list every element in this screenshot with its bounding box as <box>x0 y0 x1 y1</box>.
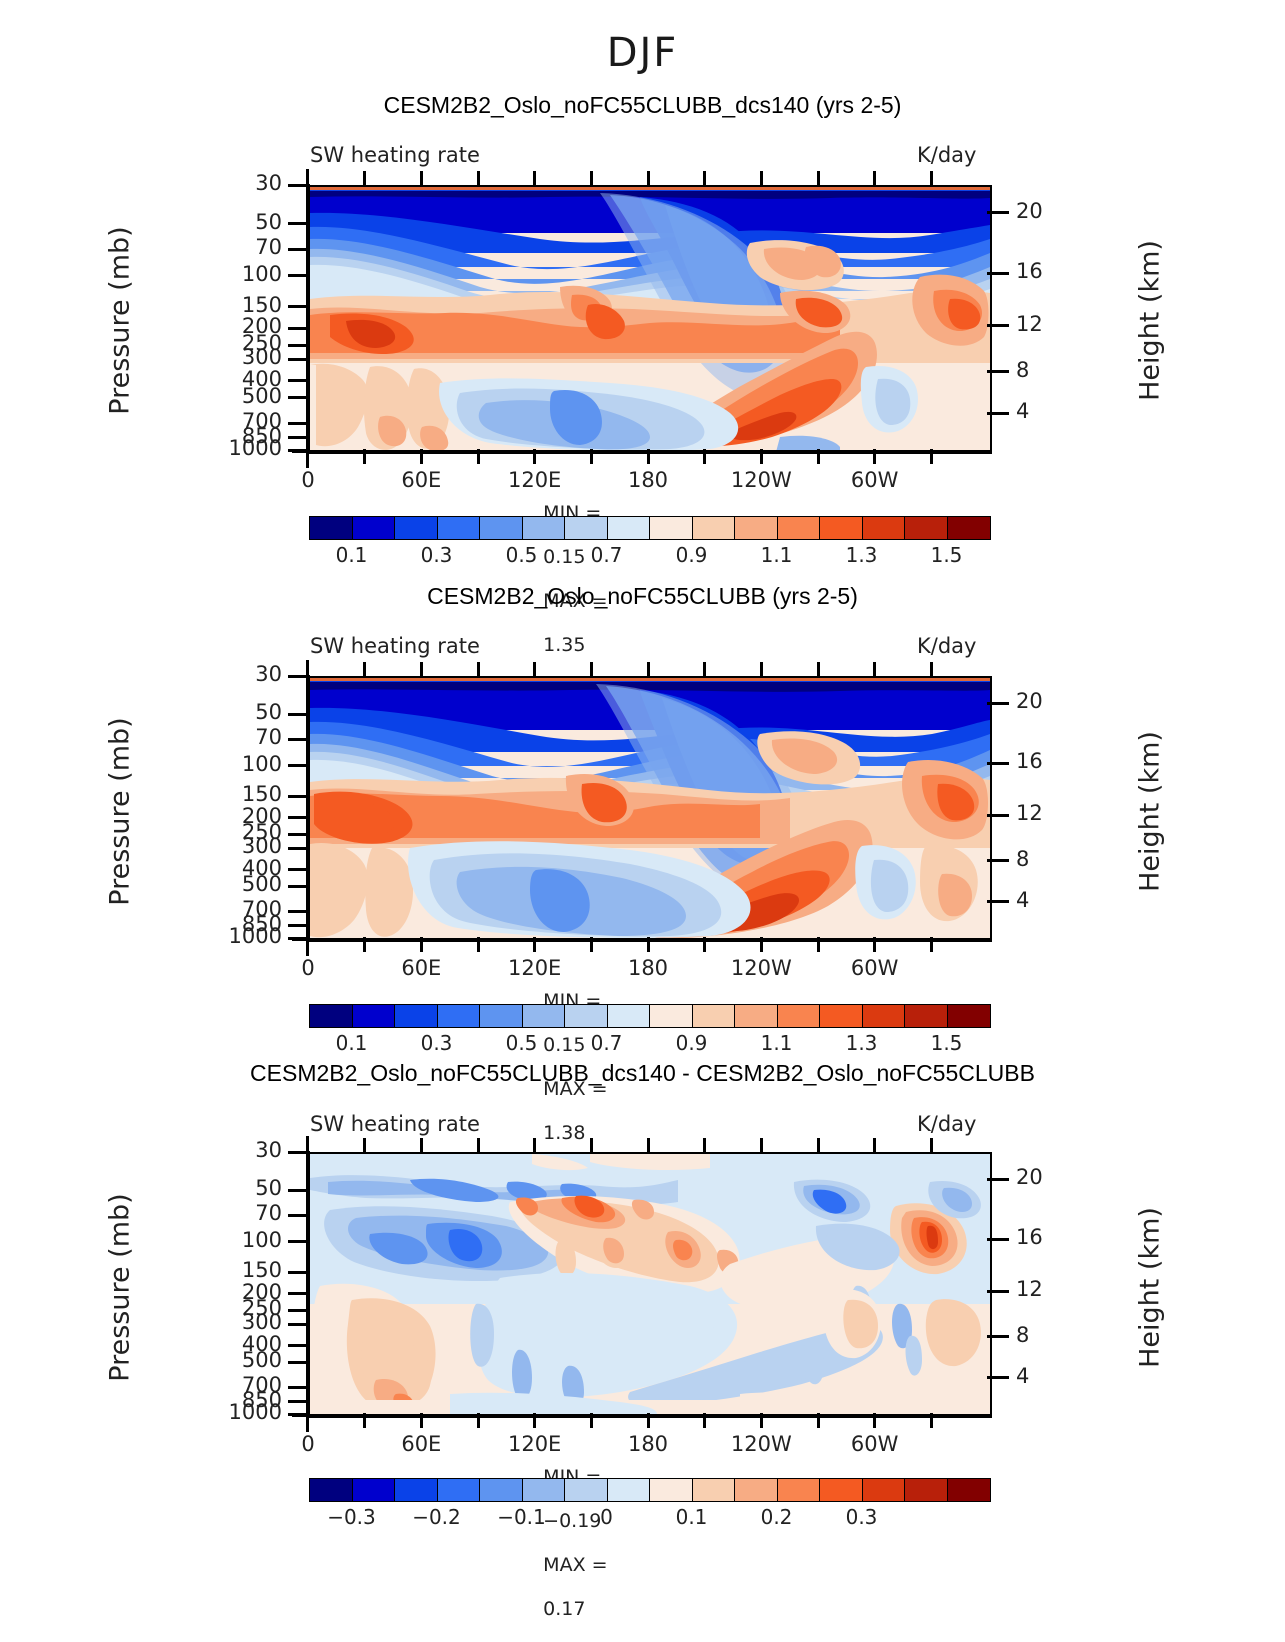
panel-2-plot-area[interactable] <box>308 676 992 942</box>
pressure-tick-label: 150 <box>178 784 282 805</box>
height-tick-label: 16 <box>1016 751 1076 772</box>
panel-2-ylabel-right: Height (km) <box>1135 662 1166 962</box>
panel-2-colorbar[interactable] <box>309 1004 991 1028</box>
colorbar-swatch[interactable] <box>480 517 523 539</box>
pressure-tick-label: 1000 <box>178 438 282 459</box>
height-tickmark <box>987 1335 1009 1338</box>
x-tick-label: 180 <box>603 468 693 492</box>
pressure-tick-label: 50 <box>178 212 282 233</box>
x-tick-label: 120E <box>490 956 580 980</box>
height-tick-label: 20 <box>1016 201 1076 222</box>
colorbar-swatch[interactable] <box>693 1005 736 1027</box>
colorbar-tick-label: 0.9 <box>647 1031 737 1055</box>
colorbar-swatch[interactable] <box>863 1005 906 1027</box>
panel-3-title: CESM2B2_Oslo_noFC55CLUBB_dcs140 - CESM2B… <box>0 1060 1285 1087</box>
colorbar-swatch[interactable] <box>438 517 481 539</box>
x-minor-tickmark <box>647 1138 650 1153</box>
height-tickmark <box>987 1178 1009 1181</box>
colorbar-swatch[interactable] <box>395 1479 438 1501</box>
height-tick-label: 16 <box>1016 1227 1076 1248</box>
x-minor-tickmark <box>477 662 480 677</box>
height-tick-label: 12 <box>1016 803 1076 824</box>
colorbar-swatch[interactable] <box>353 1005 396 1027</box>
panel-2-units-label: K/day <box>917 634 976 658</box>
height-tickmark <box>987 370 1009 373</box>
colorbar-swatch[interactable] <box>693 517 736 539</box>
colorbar-swatch[interactable] <box>735 517 778 539</box>
x-minor-tickmark <box>590 171 593 186</box>
bottom-axis-spine <box>292 450 990 453</box>
panel-3-minmax: MIN = −0.19 MAX = 0.17 <box>519 1444 608 1642</box>
height-tickmark <box>987 1238 1009 1241</box>
x-tick-label: 60E <box>376 468 466 492</box>
x-tick-label: 120W <box>716 1432 806 1456</box>
colorbar-swatch[interactable] <box>948 517 991 539</box>
colorbar-swatch[interactable] <box>778 1005 821 1027</box>
pressure-tick-label: 50 <box>178 702 282 723</box>
panel-3-ylabel-right: Height (km) <box>1135 1138 1166 1438</box>
x-tick-label: 60W <box>830 956 920 980</box>
colorbar-swatch[interactable] <box>523 517 566 539</box>
colorbar-swatch[interactable] <box>565 1479 608 1501</box>
colorbar-swatch[interactable] <box>523 1479 566 1501</box>
pressure-tick-label: 500 <box>178 874 282 895</box>
x-minor-tickmark <box>477 1138 480 1153</box>
x-minor-tickmark <box>703 662 706 677</box>
height-tickmark <box>987 762 1009 765</box>
colorbar-swatch[interactable] <box>353 1479 396 1501</box>
colorbar-swatch[interactable] <box>820 1005 863 1027</box>
colorbar-swatch[interactable] <box>480 1479 523 1501</box>
pressure-tick-label: 70 <box>178 727 282 748</box>
x-minor-tickmark <box>703 1138 706 1153</box>
colorbar-swatch[interactable] <box>310 1005 353 1027</box>
panel-1-ylabel: Pressure (mb) <box>105 171 136 471</box>
left-axis-spine <box>306 660 309 956</box>
colorbar-tick-label: 1.5 <box>902 1031 992 1055</box>
x-tick-label: 120W <box>716 468 806 492</box>
x-minor-tickmark <box>873 1138 876 1153</box>
max-value: 1.35 <box>543 634 585 656</box>
x-tick-label: 0 <box>263 468 353 492</box>
panel-3-contour-field <box>310 1154 990 1416</box>
x-tick-label: 0 <box>263 1432 353 1456</box>
panel-1-ylabel-right: Height (km) <box>1135 171 1166 471</box>
panel-2-variable-label: SW heating rate <box>310 634 480 658</box>
pressure-tick-label: 70 <box>178 1203 282 1224</box>
x-minor-tickmark <box>817 171 820 186</box>
panel-1-colorbar[interactable] <box>309 516 991 540</box>
x-tick-label: 120W <box>716 956 806 980</box>
colorbar-swatch[interactable] <box>905 1479 948 1501</box>
max-prefix: MAX = <box>543 1554 607 1576</box>
colorbar-tick-label: 0.3 <box>392 543 482 567</box>
colorbar-tick-label: 1.3 <box>817 543 907 567</box>
x-tick-label: 180 <box>603 1432 693 1456</box>
x-minor-tickmark <box>930 662 933 677</box>
panel-1-units-label: K/day <box>917 143 976 167</box>
colorbar-swatch[interactable] <box>863 1479 906 1501</box>
colorbar-swatch[interactable] <box>948 1005 991 1027</box>
panel-3-units-label: K/day <box>917 1112 976 1136</box>
height-tick-label: 8 <box>1016 360 1076 381</box>
height-tick-label: 8 <box>1016 1325 1076 1346</box>
height-tickmark <box>987 1290 1009 1293</box>
panel-3-variable-label: SW heating rate <box>310 1112 480 1136</box>
panel-1-title: CESM2B2_Oslo_noFC55CLUBB_dcs140 (yrs 2-5… <box>0 92 1285 119</box>
colorbar-tick-label: 0.5 <box>477 543 567 567</box>
colorbar-tick-label: 0.1 <box>307 1031 397 1055</box>
x-minor-tickmark <box>533 1138 536 1153</box>
x-tick-label: 60W <box>830 1432 920 1456</box>
height-tickmark <box>987 859 1009 862</box>
colorbar-swatch[interactable] <box>863 517 906 539</box>
pressure-tick-label: 1000 <box>178 1402 282 1423</box>
x-minor-tickmark <box>420 1138 423 1153</box>
x-minor-tickmark <box>533 662 536 677</box>
panel-3-plot-area[interactable] <box>308 1152 992 1418</box>
panel-2-ylabel: Pressure (mb) <box>105 662 136 962</box>
x-minor-tickmark <box>930 1138 933 1153</box>
pressure-tick-label: 300 <box>178 347 282 368</box>
height-tick-label: 8 <box>1016 849 1076 870</box>
height-tick-label: 20 <box>1016 1167 1076 1188</box>
x-minor-tickmark <box>363 662 366 677</box>
x-minor-tickmark <box>420 662 423 677</box>
max-value: 0.17 <box>543 1598 585 1620</box>
colorbar-tick-label: 1.5 <box>902 543 992 567</box>
colorbar-tick-label: 0.1 <box>307 543 397 567</box>
colorbar-swatch[interactable] <box>650 1479 693 1501</box>
x-minor-tickmark <box>817 1138 820 1153</box>
colorbar-swatch[interactable] <box>905 1005 948 1027</box>
height-tickmark <box>987 211 1009 214</box>
colorbar-swatch[interactable] <box>310 1479 353 1501</box>
pressure-tick-label: 500 <box>178 1350 282 1371</box>
panel-1-plot-area[interactable] <box>308 185 992 454</box>
height-tickmark <box>987 324 1009 327</box>
height-tickmark <box>987 702 1009 705</box>
colorbar-swatch[interactable] <box>820 517 863 539</box>
x-minor-tickmark <box>760 171 763 186</box>
season-title: DJF <box>0 30 1285 76</box>
x-minor-tickmark <box>590 1138 593 1153</box>
x-minor-tickmark <box>477 171 480 186</box>
colorbar-tick-label: 0.5 <box>477 1031 567 1055</box>
colorbar-swatch[interactable] <box>608 517 651 539</box>
x-tick-label: 180 <box>603 956 693 980</box>
panel-2-contour-field <box>310 678 990 940</box>
x-minor-tickmark <box>817 662 820 677</box>
pressure-tick-label: 100 <box>178 264 282 285</box>
colorbar-swatch[interactable] <box>438 1479 481 1501</box>
height-tickmark <box>987 412 1009 415</box>
colorbar-swatch[interactable] <box>608 1479 651 1501</box>
colorbar-swatch[interactable] <box>905 517 948 539</box>
x-tick-label: 0 <box>263 956 353 980</box>
colorbar-tick-label: 0.2 <box>732 1505 822 1529</box>
colorbar-tick-label: 0.3 <box>817 1505 907 1529</box>
panel-1-variable-label: SW heating rate <box>310 143 480 167</box>
panel-3-ylabel: Pressure (mb) <box>105 1138 136 1438</box>
x-minor-tickmark <box>590 662 593 677</box>
x-minor-tickmark <box>873 171 876 186</box>
colorbar-swatch[interactable] <box>948 1479 991 1501</box>
colorbar-tick-label: 0.9 <box>647 543 737 567</box>
pressure-tick-label: 300 <box>178 836 282 857</box>
pressure-tick-label: 1000 <box>178 926 282 947</box>
colorbar-tick-label: −0.2 <box>392 1505 482 1529</box>
colorbar-swatch[interactable] <box>565 1005 608 1027</box>
bottom-axis-spine <box>292 1414 990 1417</box>
height-tick-label: 4 <box>1016 1366 1076 1387</box>
pressure-tick-label: 50 <box>178 1178 282 1199</box>
height-tick-label: 4 <box>1016 890 1076 911</box>
pressure-tick-label: 70 <box>178 237 282 258</box>
colorbar-tick-label: −0.1 <box>477 1505 567 1529</box>
pressure-tick-label: 30 <box>178 173 282 194</box>
colorbar-swatch[interactable] <box>395 517 438 539</box>
panel-3-colorbar[interactable] <box>309 1478 991 1502</box>
height-tick-label: 16 <box>1016 261 1076 282</box>
x-minor-tickmark <box>930 171 933 186</box>
colorbar-swatch[interactable] <box>608 1005 651 1027</box>
x-minor-tickmark <box>647 171 650 186</box>
colorbar-tick-label: 0.7 <box>562 1031 652 1055</box>
x-minor-tickmark <box>703 171 706 186</box>
x-tick-label: 120E <box>490 468 580 492</box>
x-minor-tickmark <box>760 1138 763 1153</box>
colorbar-swatch[interactable] <box>735 1005 778 1027</box>
pressure-tick-label: 500 <box>178 386 282 407</box>
height-tick-label: 12 <box>1016 1279 1076 1300</box>
colorbar-swatch[interactable] <box>778 517 821 539</box>
pressure-tick-label: 100 <box>178 754 282 775</box>
colorbar-swatch[interactable] <box>523 1005 566 1027</box>
colorbar-swatch[interactable] <box>480 1005 523 1027</box>
colorbar-swatch[interactable] <box>735 1479 778 1501</box>
colorbar-swatch[interactable] <box>438 1005 481 1027</box>
x-tick-label: 60E <box>376 956 466 980</box>
pressure-tick-label: 100 <box>178 1230 282 1251</box>
x-minor-tickmark <box>647 662 650 677</box>
x-tick-label: 120E <box>490 1432 580 1456</box>
max-value: 1.38 <box>543 1122 585 1144</box>
colorbar-swatch[interactable] <box>395 1005 438 1027</box>
pressure-tick-label: 30 <box>178 664 282 685</box>
colorbar-swatch[interactable] <box>778 1479 821 1501</box>
height-tickmark <box>987 900 1009 903</box>
height-tick-label: 20 <box>1016 691 1076 712</box>
bottom-axis-spine <box>292 938 990 941</box>
colorbar-tick-label: 1.3 <box>817 1031 907 1055</box>
colorbar-tick-label: −0.3 <box>307 1505 397 1529</box>
colorbar-tick-label: 0.7 <box>562 543 652 567</box>
x-tick-label: 60W <box>830 468 920 492</box>
colorbar-tick-label: 0 <box>562 1505 652 1529</box>
colorbar-swatch[interactable] <box>353 517 396 539</box>
pressure-tick-label: 30 <box>178 1140 282 1161</box>
height-tickmark <box>987 272 1009 275</box>
x-minor-tickmark <box>420 171 423 186</box>
panel-2-title: CESM2B2_Oslo_noFC55CLUBB (yrs 2-5) <box>0 583 1285 610</box>
x-minor-tickmark <box>873 662 876 677</box>
colorbar-tick-label: 0.3 <box>392 1031 482 1055</box>
height-tick-label: 4 <box>1016 401 1076 422</box>
colorbar-swatch[interactable] <box>693 1479 736 1501</box>
colorbar-swatch[interactable] <box>310 517 353 539</box>
pressure-tick-label: 300 <box>178 1312 282 1333</box>
colorbar-tick-label: 1.1 <box>732 543 822 567</box>
height-tickmark <box>987 1376 1009 1379</box>
pressure-tick-label: 150 <box>178 1260 282 1281</box>
x-minor-tickmark <box>533 171 536 186</box>
x-tick-label: 60E <box>376 1432 466 1456</box>
colorbar-swatch[interactable] <box>650 1005 693 1027</box>
colorbar-swatch[interactable] <box>565 517 608 539</box>
colorbar-swatch[interactable] <box>820 1479 863 1501</box>
panel-1-contour-field <box>310 187 990 452</box>
left-axis-spine <box>306 169 309 468</box>
height-tick-label: 12 <box>1016 314 1076 335</box>
left-axis-spine <box>306 1136 309 1432</box>
colorbar-tick-label: 0.1 <box>647 1505 737 1529</box>
x-minor-tickmark <box>760 662 763 677</box>
x-minor-tickmark <box>363 171 366 186</box>
pressure-tick-label: 150 <box>178 295 282 316</box>
colorbar-tick-label: 1.1 <box>732 1031 822 1055</box>
x-minor-tickmark <box>363 1138 366 1153</box>
panel-1-minmax: MIN = 0.15 MAX = 1.35 <box>519 480 608 678</box>
height-tickmark <box>987 814 1009 817</box>
colorbar-swatch[interactable] <box>650 517 693 539</box>
